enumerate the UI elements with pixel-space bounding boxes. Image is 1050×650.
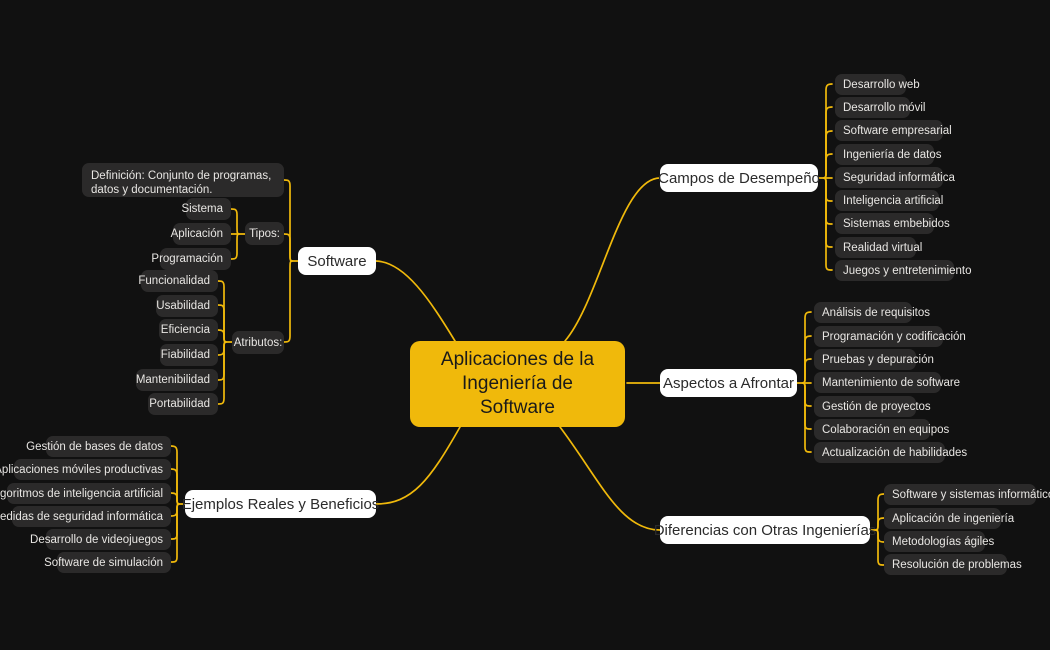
leaf-label: Gestión de bases de datos — [26, 441, 163, 453]
campos-item[interactable]: Realidad virtual — [835, 237, 916, 258]
ejemplos-item[interactable]: Aplicaciones móviles productivas — [14, 459, 171, 480]
link-campos-3 — [824, 154, 832, 178]
central-topic[interactable]: Aplicaciones de la Ingeniería de Softwar… — [410, 341, 625, 427]
aspectos-item[interactable]: Programación y codificación — [814, 326, 943, 347]
branch-software-label: Software — [307, 253, 366, 270]
link-center-campos — [565, 178, 660, 341]
aspectos-item[interactable]: Mantenimiento de software — [814, 372, 941, 393]
leaf-label: Software de simulación — [44, 557, 163, 569]
aspectos-item[interactable]: Análisis de requisitos — [814, 302, 912, 323]
leaf-label: Sistema — [181, 203, 223, 215]
leaf-label: Pruebas y depuración — [822, 354, 934, 366]
campos-item[interactable]: Inteligencia artificial — [835, 190, 939, 211]
link-campos-2 — [824, 131, 832, 178]
diferencias-item[interactable]: Resolución de problemas — [884, 554, 1007, 575]
link-diferencias-0 — [876, 494, 884, 530]
leaf-label: Software y sistemas informáticos — [892, 489, 1050, 501]
link-center-ejemplos — [376, 427, 460, 504]
link-atributos-0 — [218, 281, 226, 342]
ejemplos-item[interactable]: Gestión de bases de datos — [46, 436, 171, 457]
branch-ejemplos-reales-y-beneficios[interactable]: Ejemplos Reales y Beneficios — [185, 490, 376, 518]
leaf-label: Medidas de seguridad informática — [0, 511, 163, 523]
link-diferencias-1 — [876, 518, 884, 530]
campos-item[interactable]: Desarrollo móvil — [835, 97, 910, 118]
leaf-label: Aplicación — [171, 228, 223, 240]
leaf-label: Seguridad informática — [843, 172, 955, 184]
software-atributo-item[interactable]: Usabilidad — [156, 295, 218, 317]
link-center-software — [376, 261, 455, 341]
campos-item[interactable]: Seguridad informática — [835, 167, 943, 188]
campos-item[interactable]: Juegos y entretenimiento — [835, 260, 954, 281]
campos-item[interactable]: Ingeniería de datos — [835, 144, 934, 165]
link-ejemplos-2 — [171, 493, 179, 504]
leaf-label: Desarrollo móvil — [843, 102, 925, 114]
campos-item[interactable]: Sistemas embebidos — [835, 213, 934, 234]
aspectos-item[interactable]: Pruebas y depuración — [814, 349, 916, 370]
leaf-label: Eficiencia — [161, 324, 210, 336]
leaf-label: Aplicación de ingeniería — [892, 513, 1014, 525]
diferencias-item[interactable]: Software y sistemas informáticos — [884, 484, 1036, 505]
leaf-label: Portabilidad — [149, 398, 210, 410]
leaf-label: Mantenibilidad — [136, 374, 210, 386]
software-atributo-item[interactable]: Portabilidad — [148, 393, 218, 415]
aspectos-item[interactable]: Gestión de proyectos — [814, 396, 916, 417]
central-topic-line-1: Aplicaciones de la — [441, 348, 594, 372]
link-aspectos-5 — [803, 383, 811, 429]
mindmap-canvas: Aplicaciones de la Ingeniería de Softwar… — [0, 0, 1050, 650]
software-atributo-item[interactable]: Mantenibilidad — [136, 369, 218, 391]
leaf-label: Programación — [151, 253, 223, 265]
aspectos-item[interactable]: Actualización de habilidades — [814, 442, 945, 463]
ejemplos-item[interactable]: Software de simulación — [57, 552, 171, 573]
link-center-diferencias — [560, 427, 660, 530]
leaf-label: Desarrollo de videojuegos — [30, 534, 163, 546]
link-diferencias-3 — [876, 530, 884, 565]
link-atributos-3 — [218, 342, 226, 355]
central-topic-line-3: Software — [480, 396, 555, 420]
link-atributos-4 — [218, 342, 226, 380]
link-tipos-0 — [231, 209, 239, 234]
link-atributos-1 — [218, 305, 226, 342]
branch-software[interactable]: Software — [298, 247, 376, 275]
link-aspectos-6 — [803, 383, 811, 452]
ejemplos-item[interactable]: Medidas de seguridad informática — [12, 506, 171, 527]
leaf-label: Usabilidad — [156, 300, 210, 312]
software-tipos-label: Tipos: — [249, 228, 280, 240]
leaf-label: Funcionalidad — [138, 275, 210, 287]
ejemplos-item[interactable]: Desarrollo de videojuegos — [46, 529, 171, 550]
leaf-label: Actualización de habilidades — [822, 447, 967, 459]
leaf-label: Software empresarial — [843, 125, 952, 137]
leaf-label: Programación y codificación — [822, 331, 966, 343]
link-atributos-2 — [218, 330, 226, 342]
branch-aspectos-label: Aspectos a Afrontar — [663, 375, 794, 392]
software-atributo-item[interactable]: Eficiencia — [159, 319, 218, 341]
branch-diferencias-label: Diferencias con Otras Ingenierías — [654, 522, 877, 539]
link-aspectos-2 — [803, 359, 811, 383]
link-diferencias-2 — [876, 530, 884, 542]
leaf-label: Fiabilidad — [161, 349, 210, 361]
branch-campos-de-desempeno[interactable]: Campos de Desempeño — [660, 164, 818, 192]
link-campos-5 — [824, 178, 832, 201]
link-campos-8 — [824, 178, 832, 270]
campos-item[interactable]: Software empresarial — [835, 120, 943, 141]
leaf-label: Inteligencia artificial — [843, 195, 943, 207]
link-aspectos-4 — [803, 383, 811, 406]
software-atributos-group[interactable]: Atributos: — [232, 331, 284, 354]
link-software-atributos — [284, 261, 292, 342]
leaf-label: Juegos y entretenimiento — [843, 265, 972, 277]
link-campos-1 — [824, 107, 832, 178]
software-tipos-group[interactable]: Tipos: — [245, 222, 284, 245]
link-software-tipos — [284, 234, 292, 261]
link-software-definicion — [284, 180, 292, 261]
link-tipos-2 — [231, 234, 239, 259]
branch-ejemplos-label: Ejemplos Reales y Beneficios — [182, 496, 380, 513]
ejemplos-item[interactable]: Algoritmos de inteligencia artificial — [7, 483, 171, 504]
link-ejemplos-4 — [171, 504, 179, 539]
leaf-label: Algoritmos de inteligencia artificial — [0, 488, 163, 500]
branch-diferencias-con-otras-ingenierias[interactable]: Diferencias con Otras Ingenierías — [660, 516, 870, 544]
leaf-label: Ingeniería de datos — [843, 149, 941, 161]
software-tipo-item[interactable]: Programación — [160, 248, 231, 270]
link-campos-6 — [824, 178, 832, 224]
diferencias-item[interactable]: Metodologías ágiles — [884, 531, 985, 552]
diferencias-item[interactable]: Aplicación de ingeniería — [884, 508, 1001, 529]
link-aspectos-1 — [803, 336, 811, 383]
leaf-label: Realidad virtual — [843, 242, 922, 254]
leaf-label: Aplicaciones móviles productivas — [0, 464, 163, 476]
leaf-label: Mantenimiento de software — [822, 377, 960, 389]
software-tipo-item[interactable]: Sistema — [186, 198, 231, 220]
software-atributos-label: Atributos: — [234, 337, 283, 349]
branch-campos-label: Campos de Desempeño — [658, 170, 820, 187]
software-atributo-item[interactable]: Fiabilidad — [160, 344, 218, 366]
leaf-label: Metodologías ágiles — [892, 536, 994, 548]
link-ejemplos-0 — [171, 446, 179, 504]
branch-aspectos-a-afrontar[interactable]: Aspectos a Afrontar — [660, 369, 797, 397]
leaf-label: Sistemas embebidos — [843, 218, 950, 230]
link-ejemplos-3 — [171, 504, 179, 516]
leaf-label: Colaboración en equipos — [822, 424, 949, 436]
link-campos-0 — [824, 84, 832, 178]
aspectos-item[interactable]: Colaboración en equipos — [814, 419, 930, 440]
link-atributos-5 — [218, 342, 226, 404]
link-campos-7 — [824, 178, 832, 247]
leaf-label: Análisis de requisitos — [822, 307, 930, 319]
link-aspectos-0 — [803, 312, 811, 383]
central-topic-line-2: Ingeniería de — [462, 372, 573, 396]
software-tipo-item[interactable]: Aplicación — [173, 223, 231, 245]
link-ejemplos-5 — [171, 504, 179, 562]
software-atributo-item[interactable]: Funcionalidad — [141, 270, 218, 292]
software-definicion-text: Definición: Conjunto de programas, datos… — [91, 170, 271, 196]
leaf-label: Resolución de problemas — [892, 559, 1022, 571]
leaf-label: Gestión de proyectos — [822, 401, 931, 413]
software-definicion[interactable]: Definición: Conjunto de programas, datos… — [82, 163, 284, 197]
leaf-label: Desarrollo web — [843, 79, 920, 91]
campos-item[interactable]: Desarrollo web — [835, 74, 906, 95]
link-ejemplos-1 — [171, 469, 179, 504]
